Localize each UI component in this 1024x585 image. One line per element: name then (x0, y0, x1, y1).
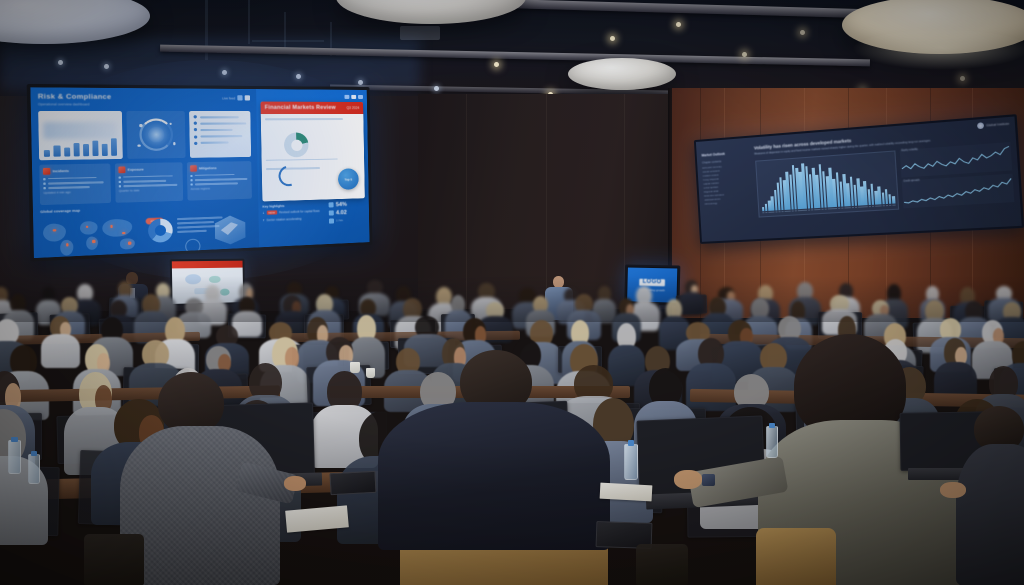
dashboard-title: Risk & Compliance (38, 93, 250, 102)
x-tick (811, 209, 814, 211)
report-donut-chart (284, 133, 309, 158)
x-tick (808, 209, 811, 211)
x-tick (875, 205, 878, 207)
geo-stats: Alerts (146, 207, 201, 228)
x-tick (762, 212, 765, 214)
x-tick (818, 209, 821, 211)
water-bottle (28, 454, 40, 484)
status-chip-icon (237, 95, 242, 100)
report-badge: Top 5 (338, 169, 359, 191)
water-bottle (766, 426, 778, 458)
x-tick (828, 208, 831, 210)
wristwatch (702, 474, 715, 486)
x-tick (765, 212, 768, 214)
status-chip-icon (245, 95, 250, 100)
x-tick (821, 208, 824, 210)
sidebar-item[interactable]: Methodology (704, 201, 753, 206)
volatility-line-chart-upper: Equity volatility (900, 142, 1012, 178)
report-card[interactable]: Financial Markets Review Q3 2024 Top 5 (260, 101, 364, 201)
alert-icon (118, 167, 125, 174)
screen-main-content: Volatility has risen across developed ma… (754, 122, 1016, 234)
x-tick (778, 211, 781, 213)
distribution-bar-chart (755, 150, 900, 217)
x-tick (886, 205, 889, 207)
dashboard-header-meta: Live feed (222, 95, 250, 100)
video-wall[interactable]: Risk & Compliance Operational overview d… (27, 84, 373, 262)
x-tick (893, 204, 896, 206)
x-tick (831, 208, 834, 210)
report-body: Top 5 (261, 114, 365, 201)
x-tick (838, 207, 841, 209)
metric-card[interactable]: Incidents Updated 4 min ago (39, 164, 111, 206)
x-tick (814, 209, 817, 211)
gauge-icon (185, 238, 201, 254)
chair (636, 544, 688, 585)
x-tick (804, 209, 807, 211)
metric-card[interactable]: Exposure Quarter to date (115, 162, 183, 203)
attendee-far-right (956, 406, 1024, 585)
chart-ghost (44, 122, 118, 139)
acoustic-disc-center (568, 58, 676, 90)
attendee-foreground-left (120, 372, 280, 585)
x-tick (795, 210, 798, 212)
x-tick (772, 211, 775, 213)
x-tick (834, 208, 837, 210)
volatility-line-chart-lower: Credit spreads (902, 173, 1014, 208)
x-tick (845, 207, 848, 209)
stat-item: 2.7Mn (329, 217, 365, 223)
data-cube-visual (212, 213, 249, 246)
report-title: Financial Markets Review (265, 104, 336, 110)
report-pane-toolbar (260, 94, 363, 99)
alert-icon (43, 168, 50, 175)
stat-icon (329, 218, 334, 223)
water-bottle (8, 440, 21, 474)
report-period: Q3 2024 (347, 106, 360, 110)
stat-icon (329, 211, 334, 216)
coffee-cup (350, 362, 360, 373)
x-tick (841, 207, 844, 209)
notepad (600, 483, 653, 502)
attendee-foreground-center (378, 350, 610, 550)
conference-hall-scene: Risk & Compliance Operational overview d… (0, 0, 1024, 585)
world-map[interactable] (40, 214, 142, 258)
x-tick (882, 205, 885, 207)
audience-seating (0, 276, 1024, 585)
x-tick (824, 208, 827, 210)
x-tick (851, 207, 854, 209)
chart-bar (892, 196, 895, 203)
stat-icon (329, 203, 334, 208)
chair (756, 528, 836, 585)
chair (84, 534, 144, 585)
x-tick (785, 211, 788, 213)
report-header: Financial Markets Review Q3 2024 (260, 101, 363, 114)
x-tick (848, 207, 851, 209)
highlight-item: 1 NEW Revised outlook for capital flows (263, 209, 327, 216)
x-tick (768, 212, 771, 214)
geo-donut-chart (148, 218, 173, 243)
dashboard-subtitle: Operational overview dashboard (38, 102, 250, 107)
metric-card[interactable]: Mitigations Across regions (187, 161, 252, 201)
priority-list-card[interactable] (189, 111, 251, 158)
screen-sidebar[interactable]: Market Outlook Chapter contents Executiv… (701, 143, 755, 238)
x-tick (798, 210, 801, 212)
network-ring-visual[interactable] (126, 111, 186, 159)
alert-icon (190, 165, 197, 172)
report-footer: Key highlights 1 NEW Revised outlook for… (262, 201, 365, 228)
trend-overview-card[interactable] (38, 111, 122, 160)
x-tick (775, 211, 778, 213)
acoustic-disc-center-left (336, 0, 526, 24)
x-tick (801, 210, 804, 212)
stat-item: 4.02 (329, 209, 365, 216)
x-tick (868, 206, 871, 208)
x-tick (865, 206, 868, 208)
x-tick (858, 206, 861, 208)
report-pane[interactable]: Financial Markets Review Q3 2024 Top 5 (256, 89, 369, 247)
x-tick (889, 204, 892, 206)
mini-bar-chart (44, 137, 118, 156)
x-tick (872, 205, 875, 207)
sidebar-nav[interactable]: Executive summary Global conditions Infl… (702, 164, 753, 206)
highlight-item: 2 Sector rotation accelerating (263, 216, 327, 223)
x-tick (781, 211, 784, 213)
attendee (0, 409, 48, 545)
water-bottle (624, 444, 638, 480)
x-tick (788, 210, 791, 212)
x-tick (791, 210, 794, 212)
x-tick (879, 205, 882, 207)
phone (329, 471, 376, 495)
stat-item: 54% (329, 201, 365, 208)
coffee-cup (366, 368, 375, 378)
x-tick (862, 206, 865, 208)
x-tick (855, 206, 858, 208)
dashboard-pane[interactable]: Risk & Compliance Operational overview d… (30, 87, 259, 258)
